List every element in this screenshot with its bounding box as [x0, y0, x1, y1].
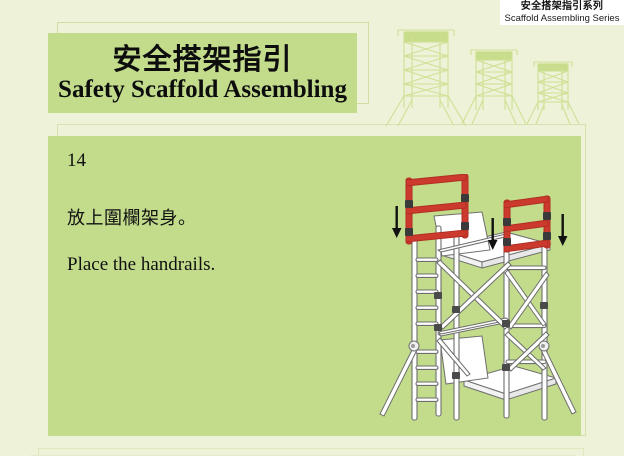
arrow-down-left — [392, 206, 402, 238]
step-number: 14 — [67, 150, 367, 172]
slide-root: 安全搭架指引系列 Scaffold Assembling Series 安全搭架… — [0, 0, 624, 456]
arrow-down-right — [558, 214, 568, 246]
page-title-cn: 安全搭架指引 — [112, 42, 292, 76]
tower-large — [386, 30, 466, 126]
instruction-text-en: Place the handrails. — [67, 254, 367, 276]
page-title-en: Safety Scaffold Assembling — [58, 75, 347, 105]
tower-small — [527, 62, 579, 124]
tower-medium — [462, 50, 526, 124]
series-badge: 安全搭架指引系列 Scaffold Assembling Series — [500, 0, 624, 25]
content-panel: 14 放上圍欄架身。 Place the handrails. — [48, 136, 581, 436]
handrail-left — [406, 174, 468, 244]
series-badge-title-cn: 安全搭架指引系列 — [500, 1, 624, 13]
scaffold-tower-diagram — [378, 174, 578, 422]
instruction-text-cn: 放上圍欄架身。 — [67, 208, 367, 230]
title-box: 安全搭架指引 Safety Scaffold Assembling — [48, 33, 357, 113]
series-badge-title-en: Scaffold Assembling Series — [500, 13, 624, 24]
instruction-block: 14 放上圍欄架身。 Place the handrails. — [67, 150, 367, 276]
